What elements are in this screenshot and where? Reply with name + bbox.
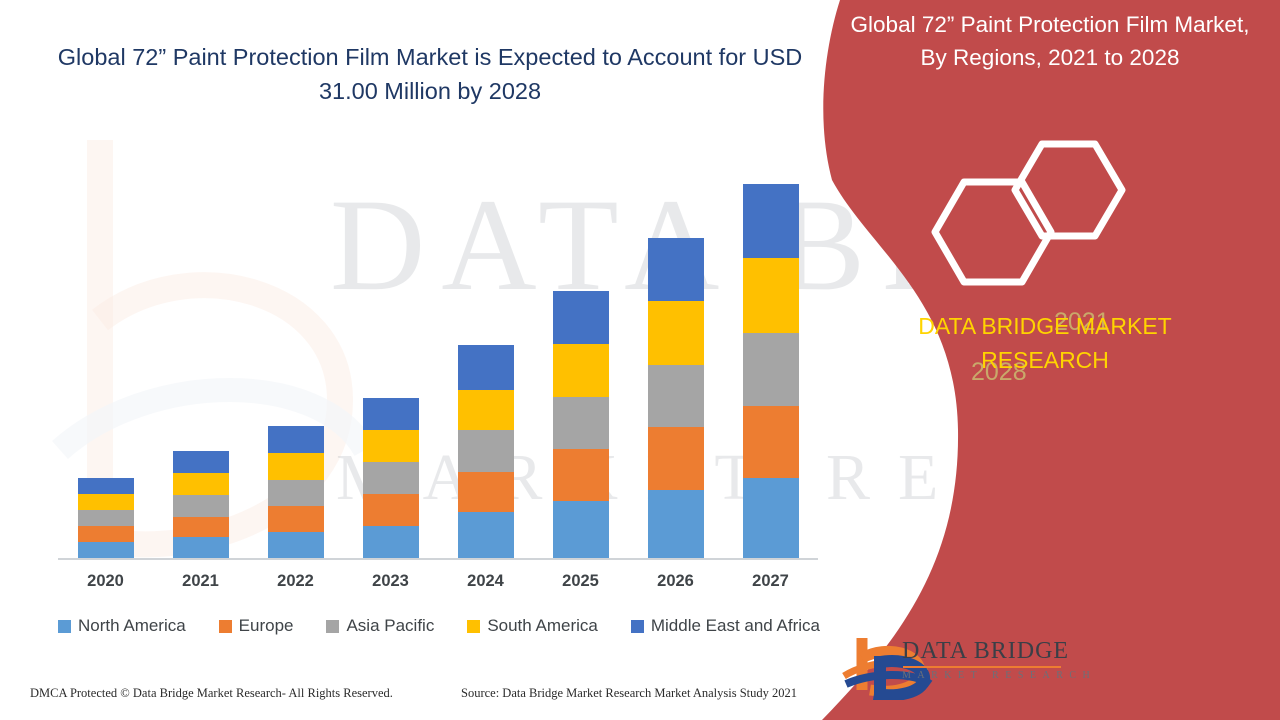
bar-segment-south-america bbox=[173, 473, 229, 495]
chart-legend: North AmericaEuropeAsia PacificSouth Ame… bbox=[58, 616, 820, 636]
legend-label: Middle East and Africa bbox=[651, 616, 820, 636]
legend-item-europe[interactable]: Europe bbox=[219, 616, 294, 636]
bar-segment-middle-east-and-africa bbox=[363, 398, 419, 430]
bar-segment-asia-pacific bbox=[173, 495, 229, 517]
bar-2020 bbox=[78, 478, 134, 558]
legend-item-south-america[interactable]: South America bbox=[467, 616, 598, 636]
bar-segment-north-america bbox=[458, 512, 514, 558]
bar-segment-europe bbox=[173, 517, 229, 537]
bar-segment-middle-east-and-africa bbox=[78, 478, 134, 494]
bar-segment-north-america bbox=[553, 501, 609, 558]
x-axis-labels: 20202021202220232024202520262027 bbox=[58, 572, 818, 591]
bar-segment-europe bbox=[743, 406, 799, 478]
x-axis-label-2027: 2027 bbox=[743, 572, 799, 591]
x-axis-label-2026: 2026 bbox=[648, 572, 704, 591]
x-axis-label-2021: 2021 bbox=[173, 572, 229, 591]
bar-2027 bbox=[743, 184, 799, 558]
bar-segment-north-america bbox=[363, 526, 419, 558]
bar-segment-south-america bbox=[648, 301, 704, 365]
bar-segment-europe bbox=[363, 494, 419, 526]
bar-segment-europe bbox=[268, 506, 324, 532]
x-axis-label-2023: 2023 bbox=[363, 572, 419, 591]
legend-label: Asia Pacific bbox=[346, 616, 434, 636]
legend-swatch-icon bbox=[58, 620, 71, 633]
legend-swatch-icon bbox=[467, 620, 480, 633]
bar-segment-south-america bbox=[553, 344, 609, 397]
legend-label: North America bbox=[78, 616, 186, 636]
bar-segment-middle-east-and-africa bbox=[743, 184, 799, 258]
bar-segment-europe bbox=[648, 427, 704, 490]
bar-segment-europe bbox=[458, 472, 514, 512]
legend-item-asia-pacific[interactable]: Asia Pacific bbox=[326, 616, 434, 636]
bar-2024 bbox=[458, 345, 514, 558]
x-axis-label-2022: 2022 bbox=[268, 572, 324, 591]
bar-2021 bbox=[173, 451, 229, 558]
bar-segment-south-america bbox=[78, 494, 134, 510]
bar-segment-south-america bbox=[268, 453, 324, 480]
legend-label: Europe bbox=[239, 616, 294, 636]
x-axis-label-2025: 2025 bbox=[553, 572, 609, 591]
bar-segment-europe bbox=[553, 449, 609, 501]
bar-segment-north-america bbox=[648, 490, 704, 558]
legend-swatch-icon bbox=[326, 620, 339, 633]
chart-pane: Global 72” Paint Protection Film Market … bbox=[0, 0, 860, 720]
bar-segment-asia-pacific bbox=[268, 480, 324, 506]
right-red-panel bbox=[810, 0, 1280, 720]
legend-swatch-icon bbox=[219, 620, 232, 633]
bar-segment-asia-pacific bbox=[78, 510, 134, 526]
x-axis-label-2020: 2020 bbox=[78, 572, 134, 591]
legend-label: South America bbox=[487, 616, 598, 636]
bar-segment-north-america bbox=[743, 478, 799, 558]
bar-segment-south-america bbox=[743, 258, 799, 333]
bar-segment-south-america bbox=[363, 430, 419, 462]
bar-segment-north-america bbox=[78, 542, 134, 558]
bar-2026 bbox=[648, 238, 704, 558]
bar-segment-middle-east-and-africa bbox=[648, 238, 704, 301]
bar-segment-middle-east-and-africa bbox=[458, 345, 514, 390]
bar-segment-south-america bbox=[458, 390, 514, 430]
legend-item-north-america[interactable]: North America bbox=[58, 616, 186, 636]
bar-segment-asia-pacific bbox=[648, 365, 704, 427]
x-axis-line bbox=[58, 558, 818, 560]
bar-segment-asia-pacific bbox=[458, 430, 514, 472]
bar-segment-middle-east-and-africa bbox=[268, 426, 324, 453]
legend-item-middle-east-and-africa[interactable]: Middle East and Africa bbox=[631, 616, 820, 636]
bar-2022 bbox=[268, 426, 324, 558]
bar-2023 bbox=[363, 398, 419, 558]
x-axis-label-2024: 2024 bbox=[458, 572, 514, 591]
legend-swatch-icon bbox=[631, 620, 644, 633]
bar-segment-europe bbox=[78, 526, 134, 542]
bar-segment-middle-east-and-africa bbox=[553, 291, 609, 344]
bar-segment-asia-pacific bbox=[553, 397, 609, 449]
bar-group bbox=[58, 140, 818, 558]
bar-segment-asia-pacific bbox=[743, 333, 799, 406]
chart-plot-area bbox=[0, 0, 860, 600]
source-note: Source: Data Bridge Market Research Mark… bbox=[461, 686, 797, 701]
bar-segment-north-america bbox=[173, 537, 229, 558]
bar-segment-asia-pacific bbox=[363, 462, 419, 494]
bar-segment-middle-east-and-africa bbox=[173, 451, 229, 473]
dmca-notice: DMCA Protected © Data Bridge Market Rese… bbox=[30, 686, 393, 701]
bar-2025 bbox=[553, 291, 609, 558]
bar-segment-north-america bbox=[268, 532, 324, 558]
